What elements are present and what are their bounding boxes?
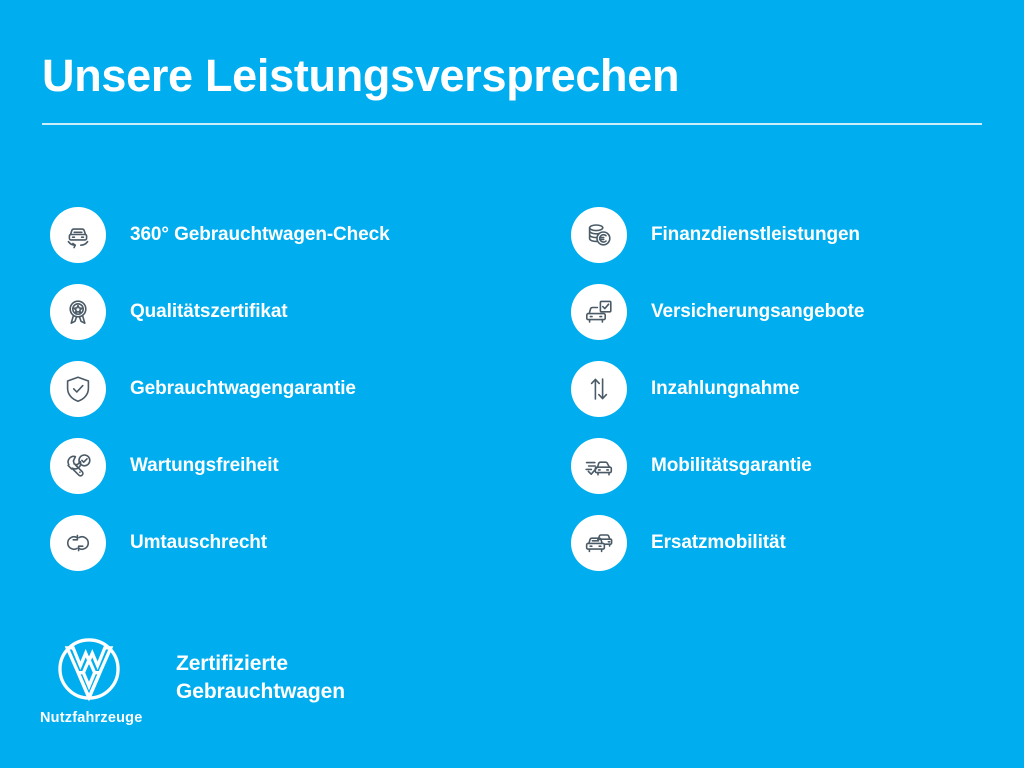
two-cars-icon (571, 515, 627, 571)
promise-label: Finanzdienstleistungen (651, 224, 860, 246)
promise-item-versicherungsangebote[interactable]: Versicherungsangebote (571, 273, 1024, 350)
brand-claim-line-2: Gebrauchtwagen (176, 678, 345, 706)
promise-item-finanzdienstleistungen[interactable]: Finanzdienstleistungen (571, 196, 1024, 273)
promise-item-mobilitaetsgarantie[interactable]: Mobilitätsgarantie (571, 427, 1024, 504)
brand-claim: Zertifizierte Gebrauchtwagen (176, 650, 345, 705)
promise-label: Ersatzmobilität (651, 532, 786, 554)
promise-item-inzahlungnahme[interactable]: Inzahlungnahme (571, 350, 1024, 427)
coins-euro-icon (571, 207, 627, 263)
arrows-up-down-icon (571, 361, 627, 417)
slide-root: Unsere Leistungsversprechen (0, 0, 1024, 768)
promise-item-ersatzmobilitaet[interactable]: Ersatzmobilität (571, 504, 1024, 581)
promise-label: Versicherungsangebote (651, 301, 864, 323)
header-divider (42, 123, 982, 125)
slide-header: Unsere Leistungsversprechen (42, 52, 982, 125)
volkswagen-logo (56, 636, 122, 702)
promise-label: Inzahlungnahme (651, 378, 800, 400)
brand-subtitle: Nutzfahrzeuge (40, 710, 156, 726)
brand-lockup: Nutzfahrzeuge Zertifizierte Gebrauchtwag… (40, 636, 345, 726)
car-document-check-icon (571, 284, 627, 340)
brand-mark: Nutzfahrzeuge (40, 636, 156, 726)
promise-label: Mobilitätsgarantie (651, 455, 812, 477)
promises-grid: 360° Gebrauchtwagen-Check Qualitätszerti… (0, 196, 1024, 581)
promises-column-right: Finanzdienstleistungen Versicheru (0, 196, 1024, 581)
page-title: Unsere Leistungsversprechen (42, 52, 982, 99)
car-speed-icon (571, 438, 627, 494)
brand-claim-line-1: Zertifizierte (176, 650, 345, 678)
